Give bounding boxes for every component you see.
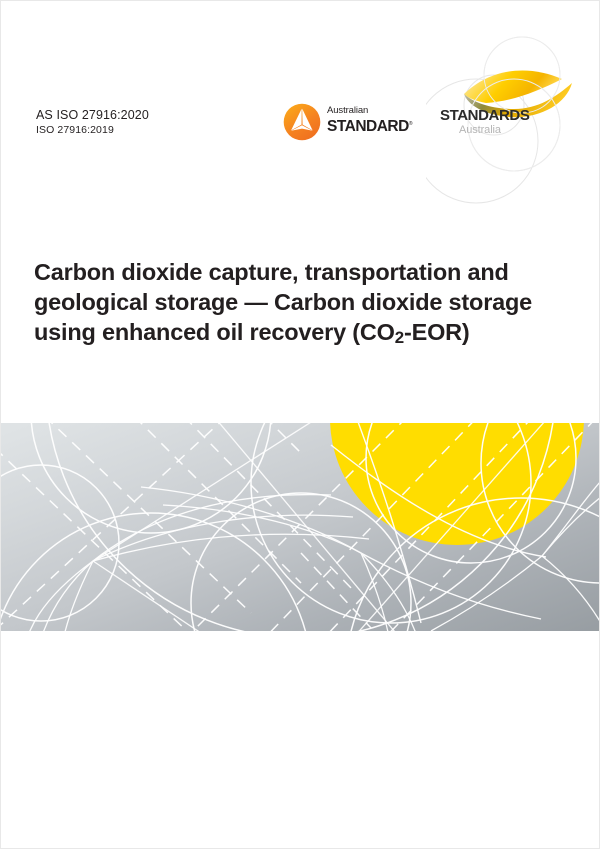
standards-australia-logo: STANDARDS Australia	[426, 29, 600, 204]
page-title: Carbon dioxide capture, transportation a…	[34, 257, 569, 350]
document-identifiers: AS ISO 27916:2020 ISO 27916:2019	[36, 108, 149, 137]
title-line-3-pre: using enhanced oil recovery (CO	[34, 319, 395, 345]
standards-australia-word-top: STANDARDS	[440, 108, 550, 124]
cover-artwork-graphic	[1, 423, 600, 631]
title-line-1: Carbon dioxide capture, transportation a…	[34, 259, 509, 285]
standards-australia-wordmark: STANDARDS Australia	[440, 108, 550, 137]
australian-standard-word-bottom: STANDARD®	[327, 116, 412, 135]
australian-standard-trademark-icon: ®	[409, 121, 412, 127]
australian-standard-logo: Australian STANDARD®	[283, 101, 408, 145]
australian-standard-word-top: Australian	[327, 105, 409, 116]
document-id-secondary: ISO 27916:2019	[36, 123, 149, 137]
document-cover-page: AS ISO 27916:2020 ISO 27916:2019 Aus	[0, 0, 600, 849]
as-word-bottom-text: STANDARD	[327, 118, 409, 135]
title-subscript: 2	[395, 328, 404, 347]
cover-artwork-band	[1, 423, 600, 631]
standards-australia-word-bottom: Australia	[459, 124, 550, 137]
title-line-3-post: -EOR)	[404, 319, 470, 345]
australian-standard-mark-icon	[283, 103, 321, 141]
australian-standard-wordmark: Australian STANDARD®	[327, 105, 409, 136]
title-line-2: geological storage — Carbon dioxide stor…	[34, 289, 532, 315]
document-id-primary: AS ISO 27916:2020	[36, 108, 149, 123]
